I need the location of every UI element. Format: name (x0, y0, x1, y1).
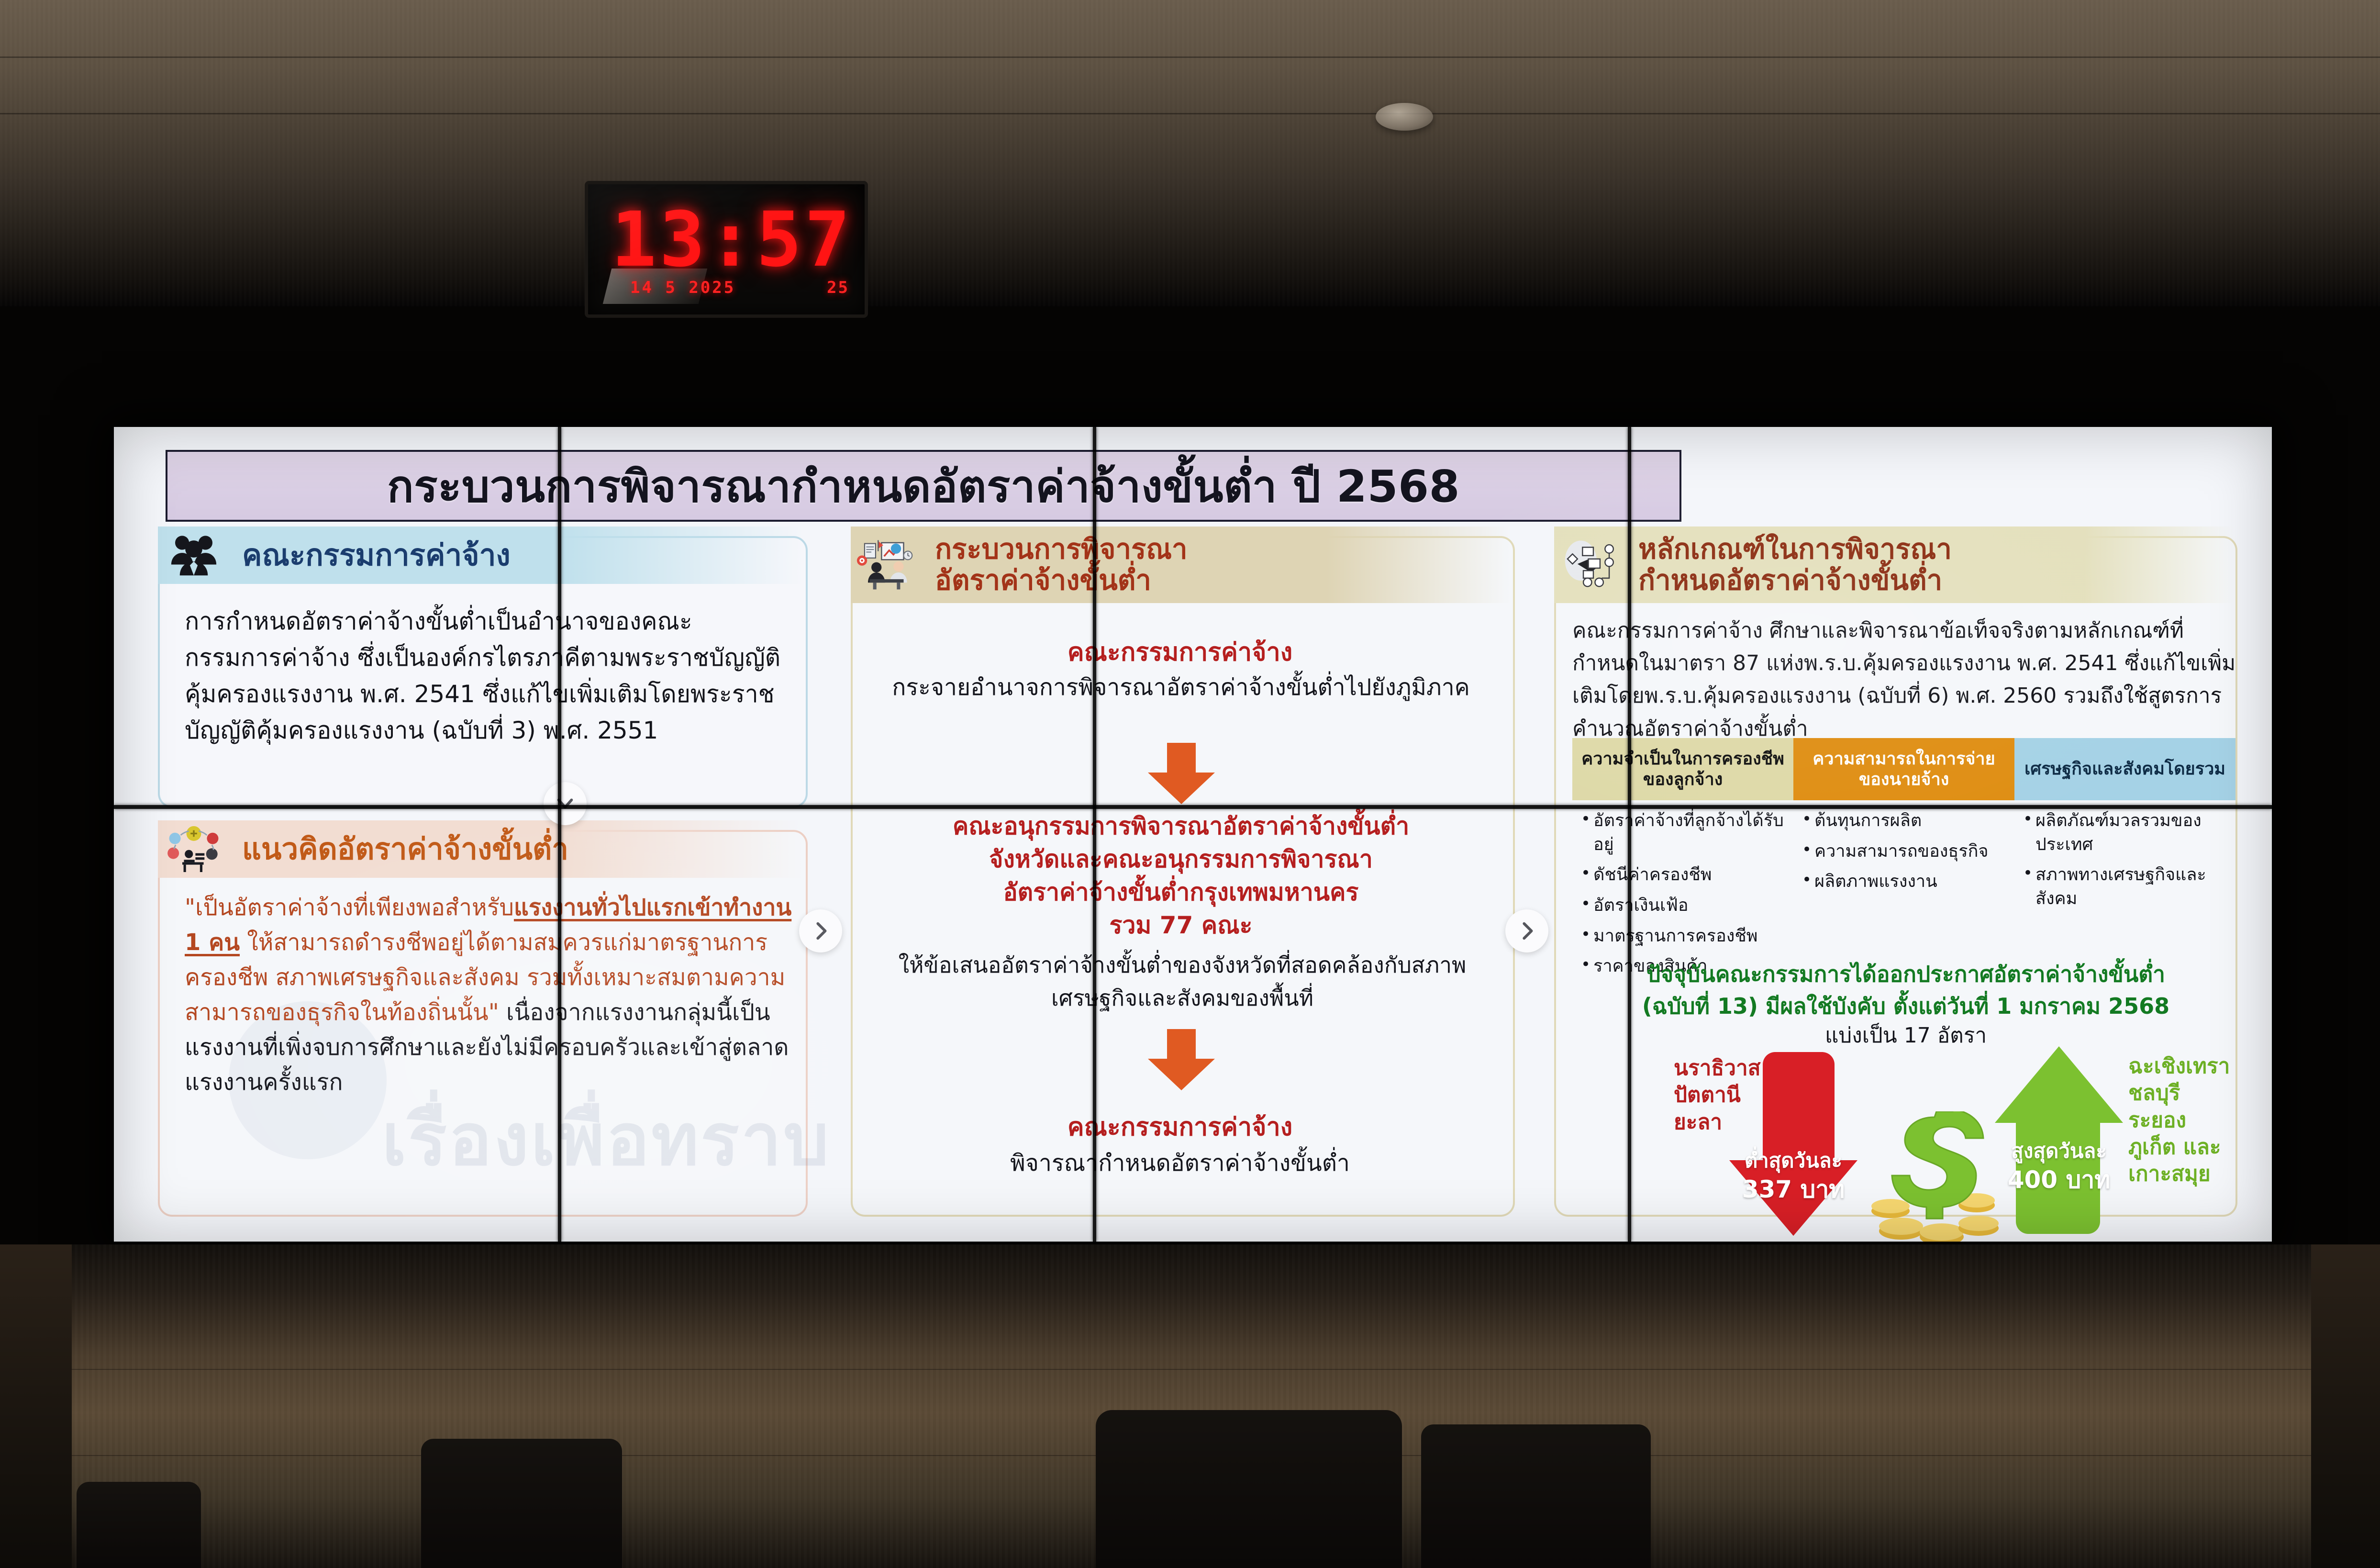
display-bezel-seam (114, 805, 2272, 809)
panel-process-header: กระบวนการพิจารณา อัตราค่าจ้างขั้นต่ำ (851, 526, 1511, 603)
process-step2-body: ให้ข้อเสนออัตราค่าจ้างขั้นต่ำของจังหวัดท… (874, 949, 1491, 1015)
display-bezel-seam (1628, 427, 1631, 1242)
panel-process-title-line2: อัตราค่าจ้างขั้นต่ำ (935, 565, 1188, 596)
ceiling-seam (0, 56, 2380, 58)
chair (77, 1482, 201, 1568)
min-wage-value: 337 บาท (1722, 1174, 1865, 1205)
process-step3-body: พิจารณากำหนดอัตราค่าจ้างขั้นต่ำ (869, 1145, 1491, 1181)
panel-concept-title: แนวคิดอัตราค่าจ้างขั้นต่ำ (230, 832, 568, 865)
panel-criteria-title: หลักเกณฑ์ในการพิจารณา กำหนดอัตราค่าจ้างข… (1626, 534, 1952, 596)
criteria-column-living-cost: ความจำเป็นในการครองชีพของลูกจ้าง อัตราค่… (1572, 738, 1793, 985)
analyst-chart-icon (1554, 537, 1626, 593)
province-name: ภูเก็ต และ (2128, 1134, 2253, 1161)
digital-wall-clock: 13:57 14 5 2025 25 (585, 181, 868, 318)
chevron-down-icon (554, 793, 576, 815)
criteria-item-list: ต้นทุนการผลิต ความสามารถของธุรกิจ ผลิตภา… (1793, 800, 2014, 894)
meeting-room-scene: 13:57 14 5 2025 25 เรื่องเพื่อทราบ กระบว… (0, 0, 2380, 1568)
panel-criteria-title-line2: กำหนดอัตราค่าจ้างขั้นต่ำ (1638, 565, 1952, 596)
process-step2-line4: รวม 77 คณะ (860, 909, 1501, 942)
list-item: ดัชนีค่าครองชีพ (1581, 863, 1789, 887)
process-step3-title: คณะกรรมการค่าจ้าง (869, 1107, 1491, 1146)
criteria-item-list: ผลิตภัณฑ์มวลรวมของประเทศ สภาพทางเศรษฐกิจ… (2014, 800, 2235, 911)
panel-wage-committee-header: คณะกรรมการค่าจ้าง (158, 526, 804, 584)
min-wage-caption: ต่ำสุดวันละ (1722, 1148, 1865, 1174)
list-item: อัตราค่าจ้างที่ลูกจ้างได้รับอยู่ (1581, 809, 1789, 856)
province-name: ฉะเชิงเทรา (2128, 1053, 2253, 1080)
max-wage-label: สูงสุดวันละ 400 บาท (1985, 1138, 2133, 1196)
chevron-right-icon (810, 920, 832, 942)
connector-down[interactable] (544, 782, 587, 825)
display-bezel-seam (1093, 427, 1096, 1242)
panel-process-title: กระบวนการพิจารณา อัตราค่าจ้างขั้นต่ำ (923, 534, 1188, 596)
presentation-slide: เรื่องเพื่อทราบ กระบวนการพิจารณากำหนดอัต… (114, 427, 2272, 1242)
province-name: ระยอง (2128, 1107, 2253, 1134)
list-item: สภาพทางเศรษฐกิจและสังคม (2023, 863, 2231, 910)
list-item: ผลิตภัณฑ์มวลรวมของประเทศ (2023, 809, 2231, 856)
province-name: ยะลา (1674, 1109, 1784, 1136)
arrow-down-icon (1146, 743, 1217, 805)
criteria-column-header: เศรษฐกิจและสังคมโดยรวม (2014, 738, 2235, 800)
chair (1421, 1424, 1651, 1568)
list-item: ผลิตภาพแรงงาน (1802, 870, 2010, 894)
left-wall-edge (0, 1244, 72, 1568)
process-step2-title: คณะอนุกรรมการพิจารณาอัตราค่าจ้างขั้นต่ำ … (860, 810, 1501, 942)
panel-criteria-body: คณะกรรมการค่าจ้าง ศึกษาและพิจารณาข้อเท็จ… (1572, 615, 2237, 745)
list-item: อัตราเงินเฟ้อ (1581, 894, 1789, 918)
process-step2-line1: คณะอนุกรรมการพิจารณาอัตราค่าจ้างขั้นต่ำ (860, 810, 1501, 843)
list-item: ความสามารถของธุรกิจ (1802, 840, 2010, 863)
chair (421, 1439, 622, 1568)
panel-concept-body: "เป็นอัตราค่าจ้างที่เพียงพอสำหรับแรงงานท… (185, 890, 792, 1100)
panel-criteria-header: หลักเกณฑ์ในการพิจารณา กำหนดอัตราค่าจ้างข… (1554, 526, 2234, 603)
panel-wage-committee-body: การกำหนดอัตราค่าจ้างขั้นต่ำเป็นอำนาจของค… (185, 603, 783, 749)
announcement-line2: (ฉบับที่ 13) มีผลใช้บังคับ ตั้งแต่วันที่… (1573, 990, 2238, 1022)
process-step2-line3: อัตราค่าจ้างขั้นต่ำกรุงเทพมหานคร (860, 876, 1501, 909)
concept-quote-open: "เป็นอัตราค่าจ้างที่เพียงพอสำหรับ (185, 894, 514, 921)
process-step2-line2: จังหวัดและคณะอนุกรรมการพิจารณา (860, 843, 1501, 876)
panel-concept-header: แนวคิดอัตราค่าจ้างขั้นต่ำ (158, 820, 804, 878)
min-wage-label: ต่ำสุดวันละ 337 บาท (1722, 1148, 1865, 1205)
clock-glass (588, 184, 865, 314)
criteria-column-header: ความสามารถในการจ่ายของนายจ้าง (1793, 738, 2014, 800)
process-step1-body: กระจายอำนาจการพิจารณาอัตราค่าจ้างขั้นต่ำ… (889, 670, 1473, 705)
meeting-presentation-icon (851, 537, 923, 593)
criteria-table: ความจำเป็นในการครองชีพของลูกจ้าง อัตราค่… (1572, 738, 2235, 985)
page-title: กระบวนการพิจารณากำหนดอัตราค่าจ้างขั้นต่ำ… (387, 451, 1460, 521)
panel-process-title-line1: กระบวนการพิจารณา (935, 534, 1188, 565)
worker-desk-idea-icon (158, 821, 230, 877)
upper-wall-texture (0, 0, 2380, 306)
list-item: มาตรฐานการครองชีพ (1581, 924, 1789, 948)
min-wage-provinces: นราธิวาส ปัตตานี ยะลา (1674, 1055, 1784, 1136)
max-wage-caption: สูงสุดวันละ (1985, 1138, 2133, 1165)
process-step1-title: คณะกรรมการค่าจ้าง (869, 632, 1491, 672)
current-announcement: ปัจจุบันคณะกรรมการได้ออกประกาศอัตราค่าจ้… (1573, 958, 2238, 1022)
criteria-column-employer-ability: ความสามารถในการจ่ายของนายจ้าง ต้นทุนการผ… (1793, 738, 2014, 985)
slide-title-bar: กระบวนการพิจารณากำหนดอัตราค่าจ้างขั้นต่ำ… (166, 450, 1681, 522)
criteria-item-list: อัตราค่าจ้างที่ลูกจ้างได้รับอยู่ ดัชนีค่… (1572, 800, 1793, 978)
right-wall-edge (2311, 1244, 2380, 1568)
criteria-column-header: ความจำเป็นในการครองชีพของลูกจ้าง (1572, 738, 1793, 800)
panel-criteria-title-line1: หลักเกณฑ์ในการพิจารณา (1638, 534, 1952, 565)
max-wage-provinces: ฉะเชิงเทรา ชลบุรี ระยอง ภูเก็ต และ เกาะส… (2128, 1053, 2253, 1188)
announcement-line1: ปัจจุบันคณะกรรมการได้ออกประกาศอัตราค่าจ้… (1573, 958, 2238, 990)
province-name: เกาะสมุย (2128, 1161, 2253, 1187)
province-name: ปัตตานี (1674, 1082, 1784, 1109)
ceiling-seam (0, 113, 2380, 114)
list-item: ต้นทุนการผลิต (1802, 809, 2010, 833)
province-name: ชลบุรี (2128, 1080, 2253, 1107)
chevron-right-icon (1516, 920, 1538, 942)
max-wage-value: 400 บาท (1985, 1165, 2133, 1196)
smoke-detector (1376, 103, 1433, 131)
criteria-column-economy-society: เศรษฐกิจและสังคมโดยรวม ผลิตภัณฑ์มวลรวมขอ… (2014, 738, 2235, 985)
display-bezel-seam (558, 427, 561, 1242)
chair (1096, 1410, 1402, 1568)
people-group-icon (158, 527, 230, 583)
province-name: นราธิวาส (1674, 1055, 1784, 1082)
arrow-down-icon (1146, 1029, 1217, 1091)
connector-right-2[interactable] (1505, 909, 1548, 952)
connector-right-1[interactable] (799, 909, 842, 952)
wall-panel-seam (0, 1369, 2380, 1370)
video-wall[interactable]: เรื่องเพื่อทราบ กระบวนการพิจารณากำหนดอัต… (114, 427, 2272, 1242)
panel-wage-committee-title: คณะกรรมการค่าจ้าง (230, 538, 511, 571)
